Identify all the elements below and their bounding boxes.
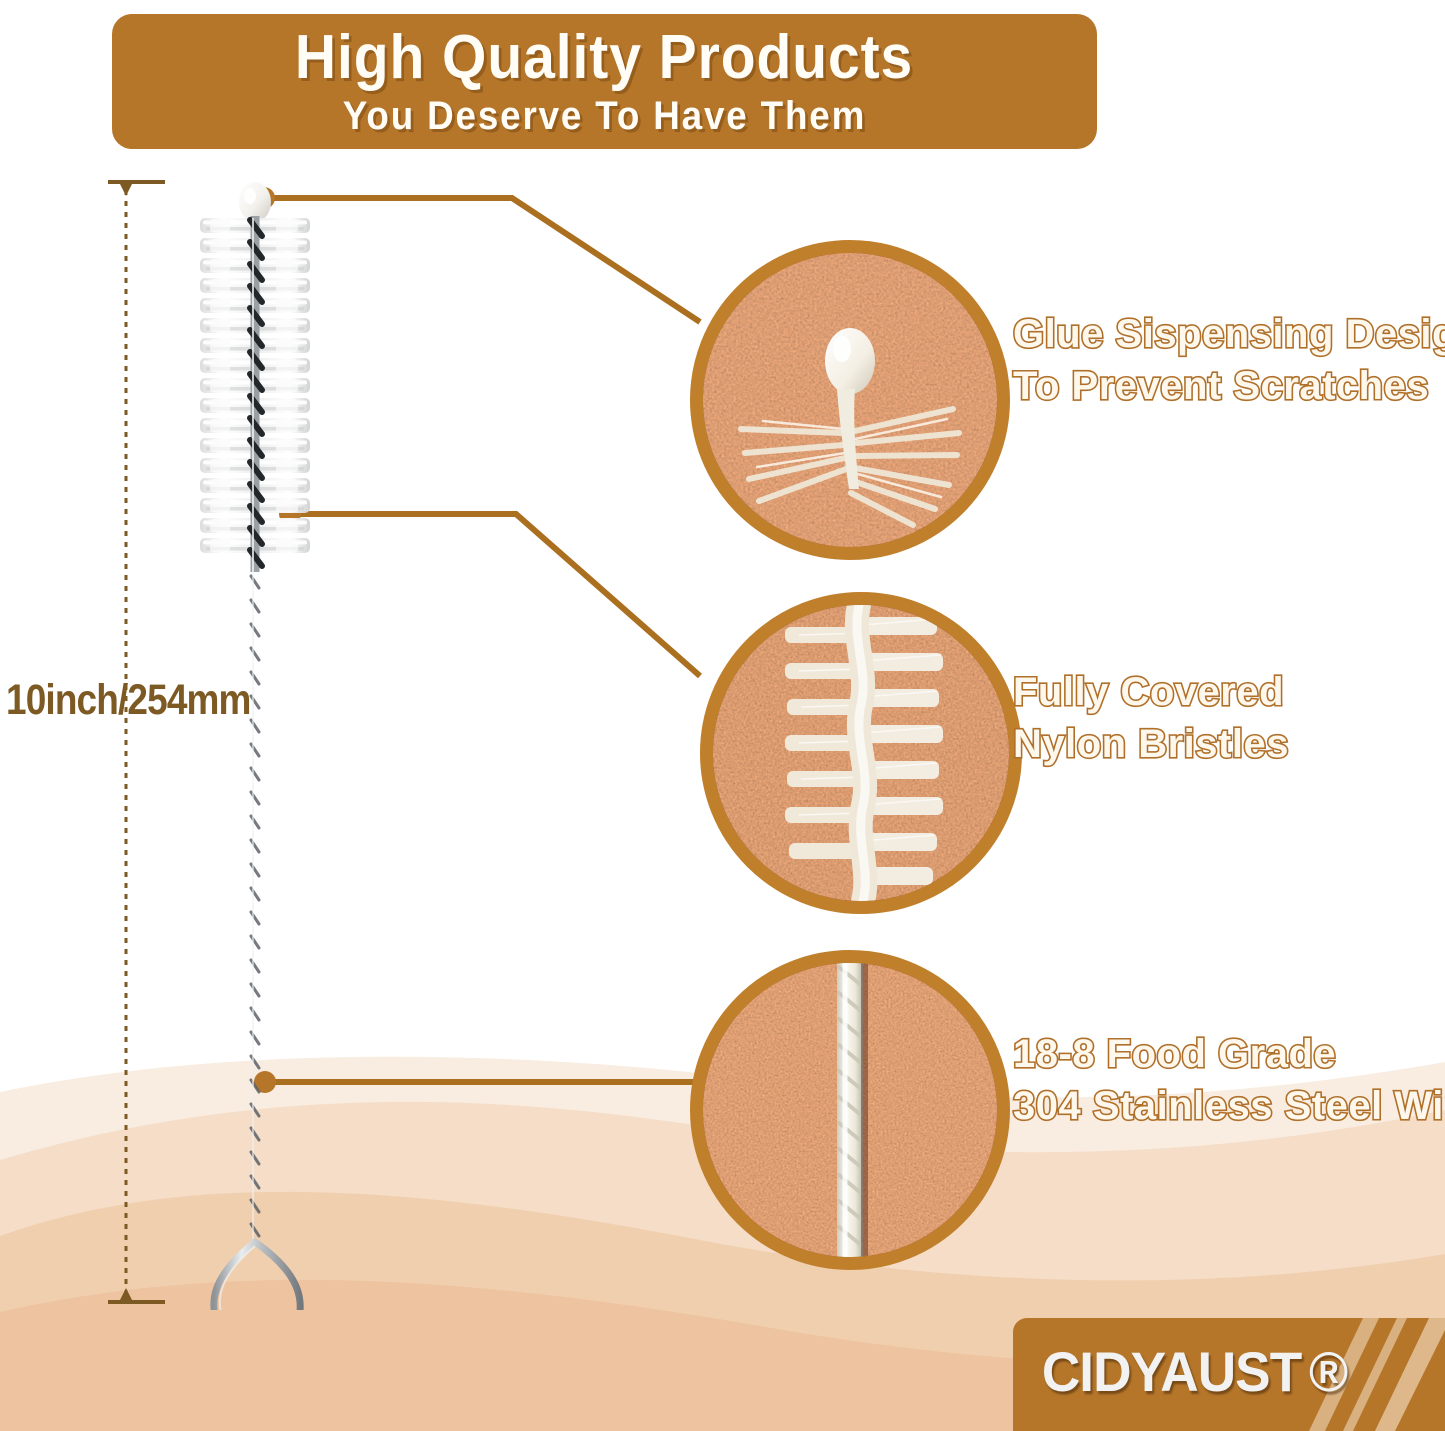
brand-logo-badge: CIDYAUST®: [1013, 1318, 1445, 1431]
feature-line-1: Glue Sispensing Design: [1013, 308, 1445, 360]
dimension-arrow-top: [119, 182, 133, 196]
feature-photo-glue-tip: [690, 240, 1010, 560]
feature-text-glue-tip: Glue Sispensing Design To Prevent Scratc…: [1013, 308, 1445, 412]
feature-line-1: Fully Covered: [1013, 666, 1289, 718]
feature-line-1: 18-8 Food Grade: [1013, 1028, 1445, 1080]
brand-name: CIDYAUST: [1042, 1339, 1301, 1404]
dimension-arrow-bottom: [119, 1288, 133, 1302]
feature-line-2: 304 Stainless Steel Wire: [1013, 1080, 1445, 1132]
stainless-steel-wire-shaft: [251, 572, 259, 1248]
feature-text-bristles: Fully Covered Nylon Bristles: [1013, 666, 1289, 770]
hanging-loop: [214, 1242, 300, 1310]
registered-trademark-icon: ®: [1309, 1339, 1347, 1404]
header-title: High Quality Products: [295, 27, 913, 89]
straw-cleaning-brush: [190, 180, 340, 1310]
feature-text-wire: 18-8 Food Grade 304 Stainless Steel Wire: [1013, 1028, 1445, 1132]
header-banner: High Quality Products You Deserve To Hav…: [112, 14, 1097, 149]
feature-line-2: To Prevent Scratches: [1013, 360, 1445, 412]
feature-photo-bristles: [700, 592, 1022, 914]
brand-wordmark: CIDYAUST®: [1035, 1340, 1348, 1402]
infographic-canvas: High Quality Products You Deserve To Hav…: [0, 0, 1445, 1431]
feature-photo-wire: [690, 950, 1010, 1270]
header-subtitle: You Deserve To Have Them: [343, 95, 866, 137]
feature-line-2: Nylon Bristles: [1013, 718, 1289, 770]
